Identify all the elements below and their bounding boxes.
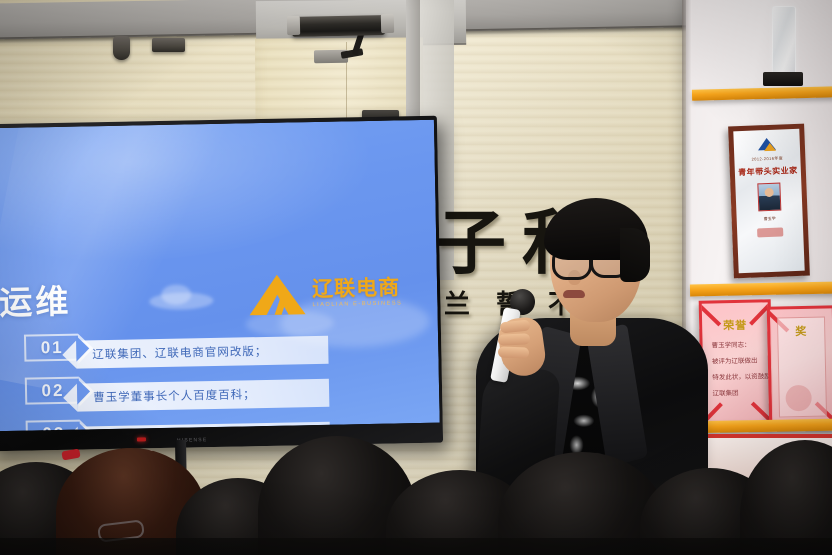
slide-bullet-list: 01 辽联集团、辽联电商官网改版； 02 曹玉学董事长个人百度百科； — [0, 327, 440, 432]
door-closer-icon — [292, 15, 385, 37]
list-item-number: 01 — [41, 337, 64, 357]
certificate-plaque-b: 奖 — [767, 305, 832, 428]
wall-fixture-icon — [113, 36, 130, 60]
wall-fixture-icon — [152, 38, 185, 52]
presentation-slide: 的运维 辽联电商 LIAOLIAN E-BUSINESS — [0, 120, 440, 432]
presenter-finger — [498, 346, 529, 358]
brand-name-en: LIAOLIAN E-BUSINESS — [312, 301, 402, 308]
presenter-finger — [498, 333, 531, 346]
list-item-text: 曹玉学董事长个人百度百科； — [77, 386, 256, 405]
list-item: 02 曹玉学董事长个人百度百科； — [0, 370, 439, 406]
tv-screen: 的运维 辽联电商 LIAOLIAN E-BUSINESS — [0, 120, 440, 432]
plaque-year: 2012-2016年度 — [752, 155, 784, 162]
list-item-number: 03 — [42, 423, 65, 431]
list-item-bar: 集团各门户网站服务器转移； — [78, 422, 330, 432]
presenter-hair-side — [620, 228, 650, 282]
slide-brand-logo: 辽联电商 LIAOLIAN E-BUSINESS — [249, 272, 403, 315]
door-closer-cap — [381, 14, 394, 33]
certificate-line: 辽联集团 — [712, 386, 763, 397]
list-item-text: 集团各门户网站服务器转移； — [78, 429, 257, 431]
certificate-header: 奖 — [770, 322, 832, 339]
list-item-bar: 辽联集团、辽联电商官网改版； — [76, 336, 328, 369]
brand-name-cn: 辽联电商 — [312, 277, 402, 301]
screenshot-scene: 子和 兰誓不 2012-2016年度 青年带头实业家 曹玉学 荣誉 曹玉学同志：… — [0, 0, 832, 555]
mountain-triangle-icon — [249, 274, 306, 315]
audience-shoulders — [0, 538, 832, 555]
plaque-seal-icon — [757, 227, 783, 237]
list-item: 03 集团各门户网站服务器转移； — [0, 413, 440, 432]
list-item-text: 辽联集团、辽联电商官网改版； — [76, 343, 267, 363]
list-item-number: 02 — [41, 380, 64, 400]
list-item: 01 辽联集团、辽联电商官网改版； — [0, 327, 438, 363]
plaque-title: 青年带头实业家 — [738, 165, 798, 178]
plaque-recipient-name: 曹玉学 — [764, 216, 776, 222]
trophy-base — [763, 72, 803, 86]
cloud-decoration — [149, 292, 213, 310]
presenter-mouth — [563, 290, 585, 298]
door-closer-cap — [287, 16, 300, 35]
list-item-bar: 曹玉学董事长个人百度百科； — [77, 379, 329, 412]
plaque-logo-icon — [758, 138, 776, 151]
trophy-icon — [772, 6, 796, 76]
wall-mounted-tv: 的运维 辽联电商 LIAOLIAN E-BUSINESS — [0, 116, 443, 452]
plaque-portrait-photo — [757, 183, 781, 212]
slide-title: 的运维 — [0, 275, 72, 325]
award-plaque: 2012-2016年度 青年带头实业家 曹玉学 — [728, 124, 810, 279]
tv-power-led — [137, 437, 146, 441]
